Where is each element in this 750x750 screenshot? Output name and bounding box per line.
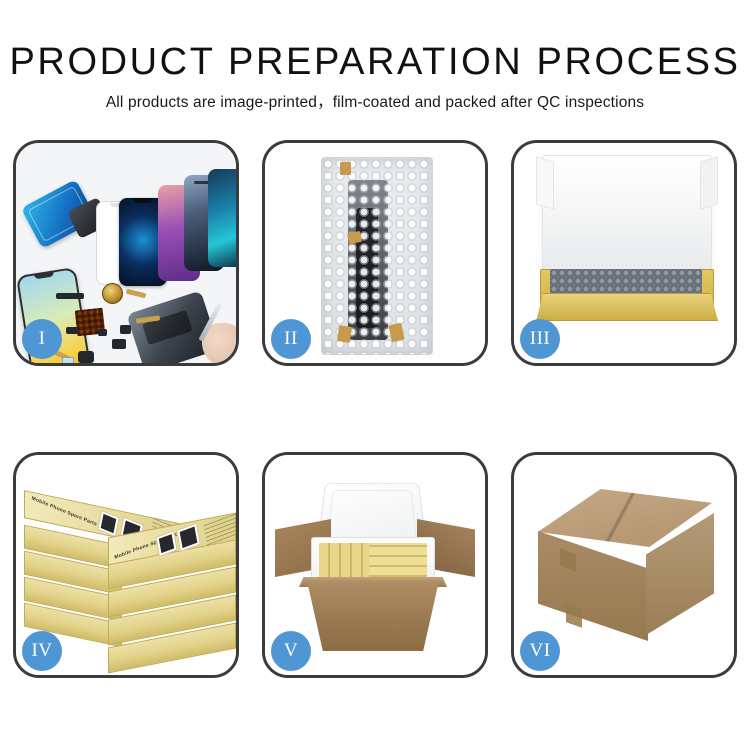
box-stack: Mobile Phone Spare Parts Mobile Phone Sp… <box>22 479 234 659</box>
page-title: PRODUCT PREPARATION PROCESS <box>0 0 750 84</box>
tape-strip-c <box>337 325 352 343</box>
small-part-f <box>98 329 107 336</box>
step-badge-3: III <box>520 319 560 359</box>
step-badge-1: I <box>22 319 62 359</box>
step-badge-5: V <box>271 631 311 671</box>
bubble-wrap-bag <box>321 157 433 355</box>
lid-flap-right <box>700 156 718 209</box>
carton-left-face <box>538 531 648 641</box>
box-thumbnail-rear-a <box>97 510 120 537</box>
small-part-c <box>78 351 94 363</box>
flex-cable-a <box>126 289 147 299</box>
yellow-box-front-face <box>536 293 718 321</box>
process-step-grid: I II <box>13 140 737 680</box>
sim-tray-part <box>62 357 74 363</box>
page-header: PRODUCT PREPARATION PROCESS All products… <box>0 0 750 113</box>
box-thumbnail-front-b <box>176 523 201 553</box>
step-badge-6: VI <box>520 631 560 671</box>
speaker-coil-part <box>102 283 123 304</box>
carton-body <box>307 581 439 651</box>
process-step-panel-1[interactable]: I <box>13 140 239 366</box>
tape-strip-b <box>347 231 362 244</box>
tape-strip-a <box>340 162 351 175</box>
lid-flap-left <box>536 156 554 209</box>
aqua-gradient-phone <box>208 169 236 267</box>
small-part-d <box>120 325 131 334</box>
small-part-a <box>56 293 84 299</box>
bubble-wrapped-contents <box>550 269 702 295</box>
process-step-panel-2[interactable]: II <box>262 140 488 366</box>
page-subtitle: All products are image-printed，film-coat… <box>0 84 750 113</box>
product-preparation-process-page: PRODUCT PREPARATION PROCESS All products… <box>0 0 750 750</box>
box-spec-lines-front <box>203 510 236 546</box>
process-step-panel-4[interactable]: Mobile Phone Spare Parts Mobile Phone Sp… <box>13 452 239 678</box>
process-step-panel-5[interactable]: V <box>262 452 488 678</box>
step-badge-2: II <box>271 319 311 359</box>
process-step-panel-6[interactable]: VI <box>511 452 737 678</box>
step-badge-4: IV <box>22 631 62 671</box>
white-box-lid <box>542 155 712 279</box>
process-step-panel-3[interactable]: III <box>511 140 737 366</box>
small-part-b <box>112 339 126 349</box>
small-part-g <box>66 327 78 334</box>
box-label-rear: Mobile Phone Spare Parts <box>31 496 97 528</box>
